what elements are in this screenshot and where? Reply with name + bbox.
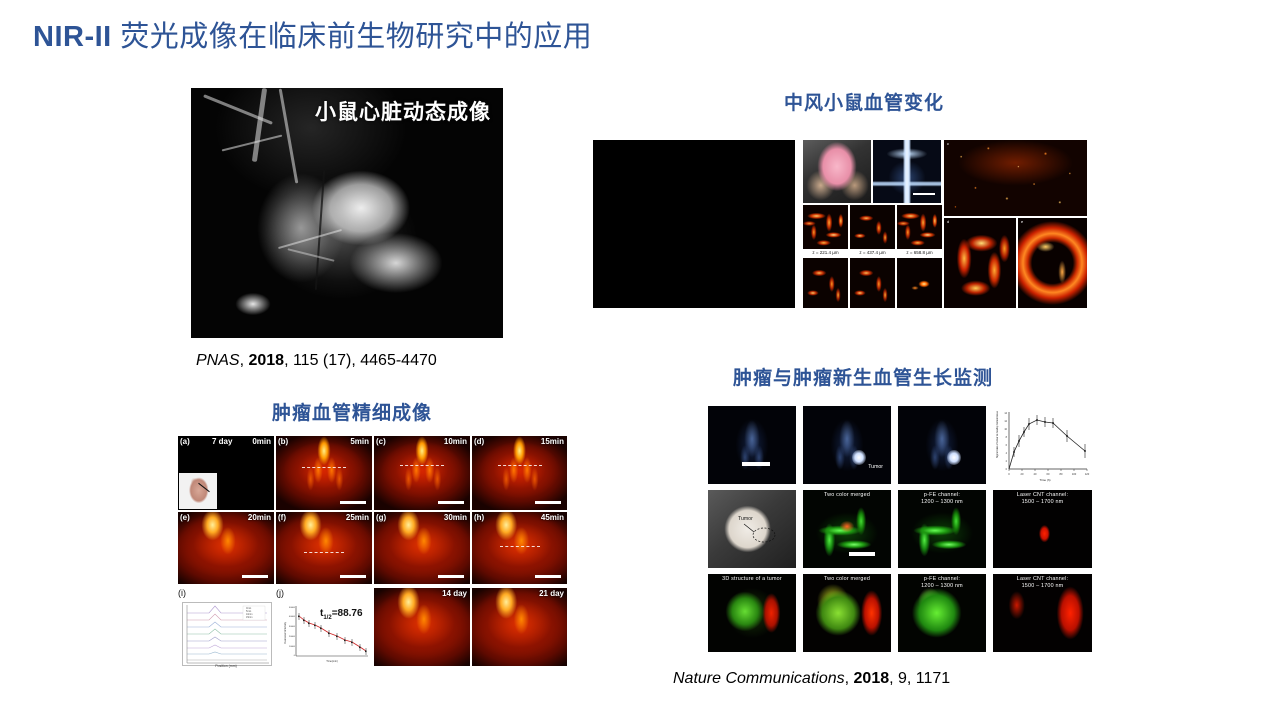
vessel-network-image: [850, 205, 895, 249]
panel-time-a: 0min: [252, 437, 271, 446]
tumor-panel-j: (j): [276, 588, 372, 666]
panel-time-c: 10min: [444, 437, 467, 446]
decay-ylabel: Fluorescent intensity: [284, 621, 287, 644]
panel-label-c: (c): [376, 437, 386, 446]
svg-text:40000: 40000: [289, 616, 296, 618]
figure-heart-dynamic-imaging[interactable]: 小鼠心脏动态成像: [191, 88, 503, 338]
tumor-fluorescence-image: [276, 436, 372, 510]
section-heading-tumor-growth: 肿瘤与肿瘤新生血管生长监测: [733, 363, 993, 390]
tumor-panel-b: (b) 5min: [276, 436, 372, 510]
vessel-network-image: [850, 258, 895, 308]
growth-panel-r1c2: Tumor: [803, 406, 891, 484]
growth-panel-r2c2: Two color merged: [803, 490, 891, 568]
growth-caption-cnt-2: Laser CNT channel: 1500 – 1700 nm: [993, 576, 1092, 591]
stroke-panel-z6: [897, 258, 942, 308]
vessel-network-image: [897, 205, 942, 249]
svg-text:20000: 20000: [289, 636, 296, 638]
tumor-panel-k: (k) 14 day: [374, 588, 470, 666]
panel-label-h: (h): [474, 513, 484, 522]
figure-tumor-vessel-imaging[interactable]: (a) 7 day 0min (b) 5min (c) 10min (d) 15…: [178, 436, 567, 666]
nir-blue-fluorescence-image: [898, 406, 986, 484]
measure-dash-line: [500, 546, 540, 547]
tumor-fluorescence-image: [178, 512, 274, 584]
measure-dash-line: [304, 552, 344, 553]
decay-annotation: t1/2=88.76: [320, 608, 363, 621]
tumor-panel-h: (h) 45min: [472, 512, 567, 584]
tumor-panel-g: (g) 30min: [374, 512, 470, 584]
nir-blue-fluorescence-image: [708, 406, 796, 484]
growth-caption-structure: 3D structure of a tumor: [708, 576, 796, 583]
tumor-fluorescence-image: [472, 588, 567, 666]
pfe-label-line2-b: 1200 – 1300 nm: [921, 583, 963, 589]
tumor-fluorescence-image: [276, 512, 372, 584]
citation-natcom-rest: , 9, 1171: [889, 670, 950, 687]
z-caption-3: z = 658.8 µm: [897, 250, 942, 255]
page-title-latin: NIR-II: [33, 21, 112, 53]
citation-nature-communications: Nature Communications, 2018, 9, 1171: [673, 670, 950, 688]
tumor-3d-structure-image: [708, 574, 796, 652]
cnt-label-line1-b: Laser CNT channel:: [1017, 576, 1068, 582]
stroke-panel-d: d: [944, 218, 1016, 308]
section-heading-stroke: 中风小鼠血管变化: [784, 88, 944, 115]
growth-caption-merged-2: Two color merged: [803, 576, 891, 583]
vessel-spot-image: [897, 258, 942, 308]
pointer-arrow-icon: [198, 483, 210, 492]
panel-day-l: 21 day: [539, 589, 564, 598]
svg-text:10000: 10000: [289, 646, 296, 648]
scale-bar: [340, 501, 366, 504]
stroke-panel-z1: [803, 205, 848, 249]
panel-label-c: c: [947, 141, 949, 146]
tumor-fluorescence-image: [472, 436, 567, 510]
cnt-label-line2: 1500 – 1700 nm: [1022, 499, 1064, 505]
tumor-panel-f: (f) 25min: [276, 512, 372, 584]
slide-canvas: NIR-II 荧光成像在临床前生物研究中的应用 小鼠心脏动态成像 PNAS, 2…: [0, 0, 1280, 720]
tumor-circle-marker: [742, 522, 776, 544]
pfe-label-line1: p-FE channel:: [924, 492, 960, 498]
measure-dash-line: [302, 467, 346, 468]
scale-bar: [849, 552, 875, 556]
tumor-fluorescence-image: [472, 512, 567, 584]
growth-panel-r3c2: Two color merged: [803, 574, 891, 652]
panel-label-b: (b): [278, 437, 288, 446]
growth-panel-r1c3: [898, 406, 986, 484]
vessel-3d-image: [944, 218, 1016, 308]
pfe-label-line2: 1200 – 1300 nm: [921, 499, 963, 505]
citation-pnas: PNAS, 2018, 115 (17), 4465-4470: [196, 352, 437, 370]
svg-text:50000: 50000: [289, 607, 296, 609]
svg-text:100: 100: [1072, 472, 1077, 476]
stroke-panel-z2: [850, 205, 895, 249]
spectra-svg: 0min5min 10min15min: [183, 603, 271, 665]
citation-pnas-rest: , 115 (17), 4465-4470: [284, 352, 437, 369]
svg-text:15min: 15min: [246, 616, 253, 619]
panel-label-i: (i): [178, 588, 186, 598]
panel-time-b: 5min: [350, 437, 369, 446]
scale-bar: [340, 575, 366, 578]
scale-bar: [742, 462, 770, 466]
mouse-photo-inset: [179, 473, 217, 509]
tumor-panel-e: (e) 20min: [178, 512, 274, 584]
nir-blue-fluorescence-image: [803, 406, 891, 484]
vessel-network-image: [803, 258, 848, 308]
pfe-label-line1-b: p-FE channel:: [924, 576, 960, 582]
stroke-panel-z3: [897, 205, 942, 249]
stroke-panel-z5: [850, 258, 895, 308]
panel-label-e: (e): [180, 513, 190, 522]
figure-stroke-vessel-grid[interactable]: c z = 221.4 µm z = 437.4 µm z = 658.8 µm…: [803, 140, 1087, 308]
measure-dash-line: [498, 465, 542, 466]
panel-day-k: 14 day: [442, 589, 467, 598]
heart-overlay-label: 小鼠心脏动态成像: [315, 96, 491, 126]
growth-caption-merged: Two color merged: [803, 492, 891, 499]
growth-caption-pfe-2: p-FE channel: 1200 – 1300 nm: [898, 576, 986, 591]
growth-signal-chart: 02040 6080100 120 024 6810 1214 Time (h)…: [993, 406, 1092, 484]
scale-bar: [913, 193, 935, 195]
tumor-panel-l: (l) 21 day: [472, 588, 567, 666]
panel-time-h: 45min: [541, 513, 564, 522]
stroke-panel-mouse-head: [803, 140, 871, 203]
tumor-panel-a: (a) 7 day 0min: [178, 436, 274, 510]
citation-pnas-journal: PNAS: [196, 352, 240, 369]
page-title: NIR-II 荧光成像在临床前生物研究中的应用: [33, 20, 592, 55]
vessel-ring-image: [1018, 218, 1087, 308]
tumor-panel-c: (c) 10min: [374, 436, 470, 510]
scale-bar: [438, 501, 464, 504]
panel-label-d: d: [947, 219, 949, 224]
figure-tumor-growth-monitoring[interactable]: Tumor: [708, 406, 1092, 658]
mouse-head-photo: [803, 140, 871, 203]
panel-time-e: 20min: [248, 513, 271, 522]
vessel-network-image: [803, 205, 848, 249]
cnt-label-line1: Laser CNT channel:: [1017, 492, 1068, 498]
citation-natcom-year: 2018: [854, 670, 890, 687]
citation-natcom-journal: Nature Communications: [673, 670, 845, 687]
growth-panel-r1c1: [708, 406, 796, 484]
scale-bar: [535, 501, 561, 504]
growth-panel-r3c1: 3D structure of a tumor: [708, 574, 796, 652]
spectra-plot: 0min5min 10min15min: [182, 602, 272, 666]
signal-chart-xlabel: Time (h): [1039, 478, 1050, 482]
stroke-panel-z4: [803, 258, 848, 308]
z-caption-1: z = 221.4 µm: [803, 250, 848, 255]
scale-bar: [535, 575, 561, 578]
growth-caption-pfe: p-FE channel: 1200 – 1300 nm: [898, 492, 986, 507]
citation-pnas-year: 2018: [248, 352, 284, 369]
signal-chart-ylabel: Signal ratio of tumor to nearby normal t…: [996, 410, 999, 458]
tumor-fluorescence-image: [374, 436, 470, 510]
panel-label-g: (g): [376, 513, 386, 522]
stroke-panel-skull: [873, 140, 941, 203]
panel-time-f: 25min: [346, 513, 369, 522]
page-title-chinese: 荧光成像在临床前生物研究中的应用: [112, 21, 593, 53]
scale-bar: [242, 575, 268, 578]
panel-label-a: (a): [180, 437, 190, 446]
panel-label-e: e: [1021, 219, 1023, 224]
citation-natcom-comma: ,: [845, 670, 854, 687]
svg-text:0: 0: [294, 655, 296, 657]
tumor-fluorescence-image: [374, 512, 470, 584]
section-heading-tumor-vessel: 肿瘤血管精细成像: [272, 398, 432, 425]
two-color-merged-image: [803, 574, 891, 652]
spectra-xlabel: Position (mm): [182, 664, 270, 668]
stroke-panel-c: c: [944, 140, 1087, 216]
scale-bar: [438, 575, 464, 578]
panel-time-d: 15min: [541, 437, 564, 446]
cnt-label-line2-b: 1500 – 1700 nm: [1022, 583, 1064, 589]
panel-day-a: 7 day: [212, 437, 232, 446]
svg-text:30000: 30000: [289, 626, 296, 628]
stroke-panel-e: e: [1018, 218, 1087, 308]
signal-ratio-svg: 02040 6080100 120 024 6810 1214 Time (h)…: [993, 406, 1092, 484]
panel-time-g: 30min: [444, 513, 467, 522]
tumor-annotation-label: Tumor: [868, 464, 883, 470]
growth-panel-r2c4: Laser CNT channel: 1500 – 1700 nm: [993, 490, 1092, 568]
tumor-panel-i: (i): [178, 588, 274, 666]
growth-panel-r2c1: Tumor: [708, 490, 796, 568]
tumor-panel-d: (d) 15min: [472, 436, 567, 510]
panel-label-d: (d): [474, 437, 484, 446]
panel-label-j: (j): [276, 588, 284, 598]
vessel-field-image: [944, 140, 1087, 216]
measure-dash-line: [400, 465, 444, 466]
svg-text:120: 120: [1085, 472, 1090, 476]
decay-xlabel: Time(min): [326, 659, 338, 663]
panel-label-f: (f): [278, 513, 286, 522]
growth-caption-cnt: Laser CNT channel: 1500 – 1700 nm: [993, 492, 1092, 507]
stroke-video-panel[interactable]: [593, 140, 795, 308]
growth-panel-r3c4: Laser CNT channel: 1500 – 1700 nm: [993, 574, 1092, 652]
growth-panel-r3c3: p-FE channel: 1200 – 1300 nm: [898, 574, 986, 652]
tumor-fluorescence-image: [374, 588, 470, 666]
growth-panel-r2c3: p-FE channel: 1200 – 1300 nm: [898, 490, 986, 568]
z-caption-2: z = 437.4 µm: [850, 250, 895, 255]
